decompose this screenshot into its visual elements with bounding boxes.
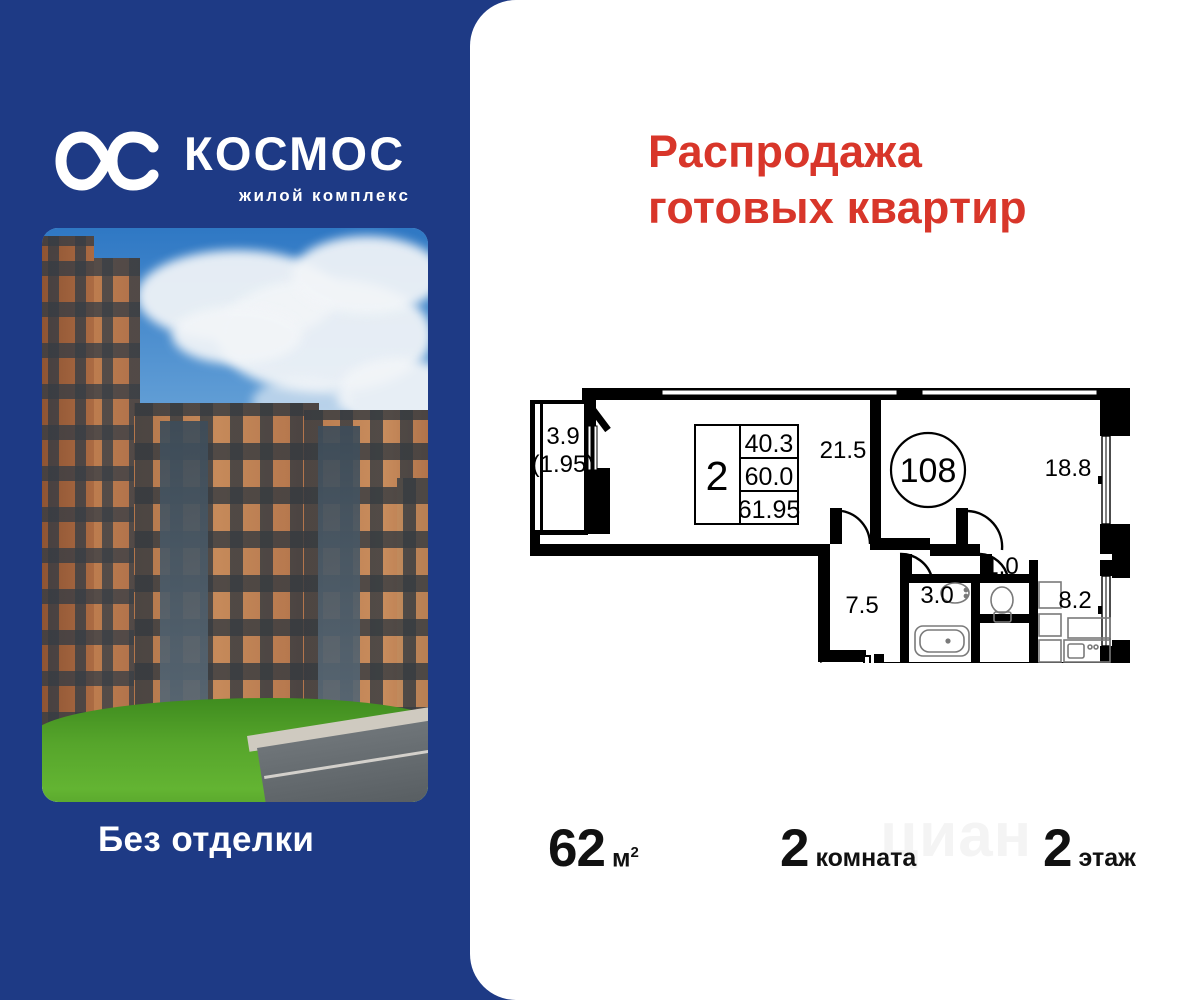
info-area: 60.0 [745, 463, 794, 491]
stat-area-value: 62 [548, 822, 605, 875]
windows [42, 236, 94, 758]
stat-rooms-unit: комната [815, 846, 916, 871]
info-rooms: 2 [706, 453, 729, 499]
info-living-area: 40.3 [745, 430, 794, 458]
room-label-bathroom: 3.0 [920, 582, 953, 609]
stat-floor-unit: этаж [1078, 846, 1135, 871]
page-title: Распродажа готовых квартир [648, 124, 1128, 236]
stat-floor: 2 этаж [1043, 822, 1136, 875]
room-label-wc: 1.0 [985, 553, 1018, 580]
info-total-area: 61.95 [738, 496, 801, 524]
room-label-kitchen: 8.2 [1058, 587, 1091, 614]
stat-rooms-value: 2 [780, 822, 808, 875]
apartment-number-text: 108 [900, 452, 957, 490]
stat-rooms: 2 комната [780, 822, 916, 875]
floor-plan: 3.9 (1.95) 21.5 18.8 7.5 3.0 1.0 8.2 108 [512, 378, 1162, 663]
stat-area: 62 м2 [548, 822, 639, 875]
cloud [172, 306, 302, 364]
stat-floor-value: 2 [1043, 822, 1071, 875]
room-label-bedroom: 18.8 [1045, 455, 1092, 482]
building-tower-side [42, 236, 94, 758]
stat-area-unit: м2 [612, 845, 639, 871]
finish-type-label: Без отделки [98, 820, 314, 860]
plan-info-box: 2 40.3 60.0 61.95 [695, 425, 800, 524]
room-label-balcony: 3.9 [546, 423, 579, 450]
page-title-line2: готовых квартир [648, 180, 1128, 236]
property-stats: 62 м2 2 комната 2 этаж [548, 816, 1168, 886]
room-label-living: 21.5 [820, 437, 867, 464]
building-photo [42, 228, 428, 802]
apartment-number: 108 [891, 433, 965, 507]
room-label-balcony-sub: (1.95) [532, 451, 595, 478]
listing-card: КОСМОС жилой комплекс [0, 0, 1200, 1000]
room-label-hallway: 7.5 [845, 592, 878, 619]
brand-tagline: жилой комплекс [239, 186, 410, 206]
brand-text: КОСМОС жилой комплекс [184, 130, 410, 206]
infinity-icon [52, 127, 162, 195]
page-title-line1: Распродажа [648, 126, 922, 177]
brand-logo: КОСМОС жилой комплекс [52, 120, 452, 212]
brand-name: КОСМОС [184, 130, 410, 177]
